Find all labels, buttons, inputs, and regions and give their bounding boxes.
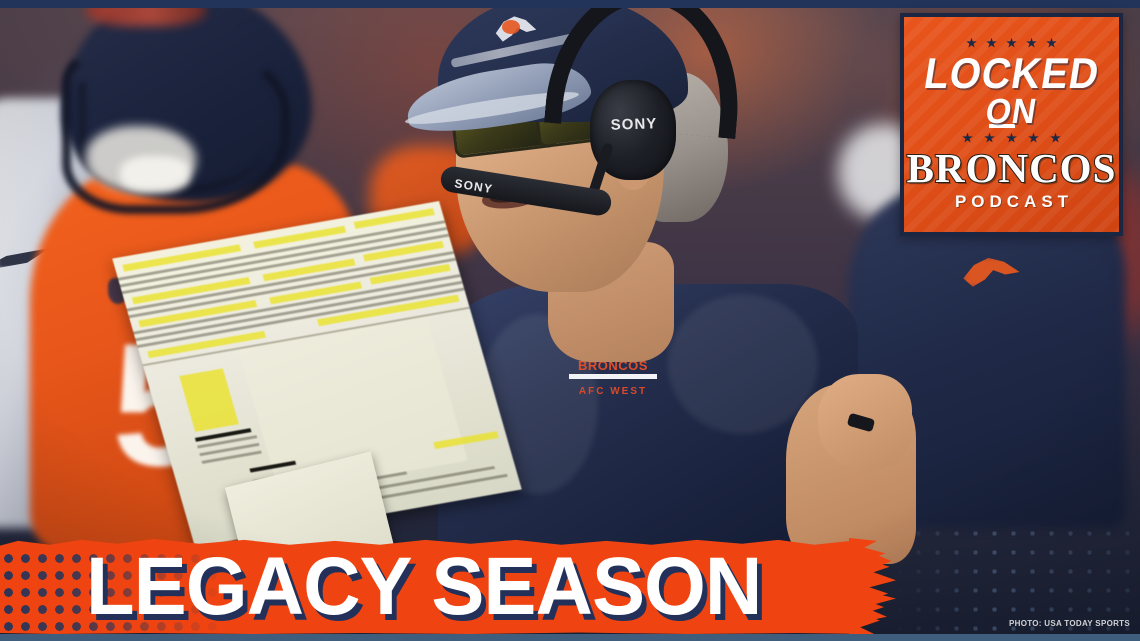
headset-brand-label: SONY: [604, 115, 665, 134]
podcast-cover-graphic: 5 BRONCOS: [0, 0, 1140, 641]
star-icon: [1026, 38, 1037, 49]
top-frame-bar: [0, 0, 1140, 8]
star-row-bottom: [962, 133, 1061, 144]
helmet-chin-pad: [120, 156, 190, 192]
star-icon: [966, 38, 977, 49]
star-icon: [1006, 38, 1017, 49]
badge-line-locked: LOCKED: [921, 52, 1102, 96]
star-icon: [1028, 133, 1039, 144]
locked-on-broncos-logo-badge: LOCKED ON BRONCOS PODCAST: [900, 13, 1123, 236]
star-icon: [986, 38, 997, 49]
halftone-dot-pattern-right: [890, 524, 1140, 634]
star-icon: [962, 133, 973, 144]
bottom-frame-bar: [0, 634, 1140, 641]
headline-text: LEGACY SEASON: [86, 546, 761, 628]
chest-logo-bar: [569, 374, 657, 379]
star-row-top: [966, 38, 1057, 49]
star-icon: [1006, 133, 1017, 144]
badge-on-group: ON: [984, 94, 1039, 128]
headline-banner: LEGACY SEASON: [0, 538, 905, 634]
star-icon: [1046, 38, 1057, 49]
badge-line-on: ON: [983, 94, 1039, 130]
cap-logo-eye: [502, 20, 520, 34]
badge-line-podcast: PODCAST: [955, 192, 1073, 212]
badge-line-broncos: BRONCOS: [907, 147, 1117, 189]
star-icon: [984, 133, 995, 144]
photo-credit: PHOTO: USA TODAY SPORTS: [1009, 619, 1130, 628]
star-icon: [1050, 133, 1061, 144]
chest-logo-division: AFC WEST: [567, 386, 659, 397]
